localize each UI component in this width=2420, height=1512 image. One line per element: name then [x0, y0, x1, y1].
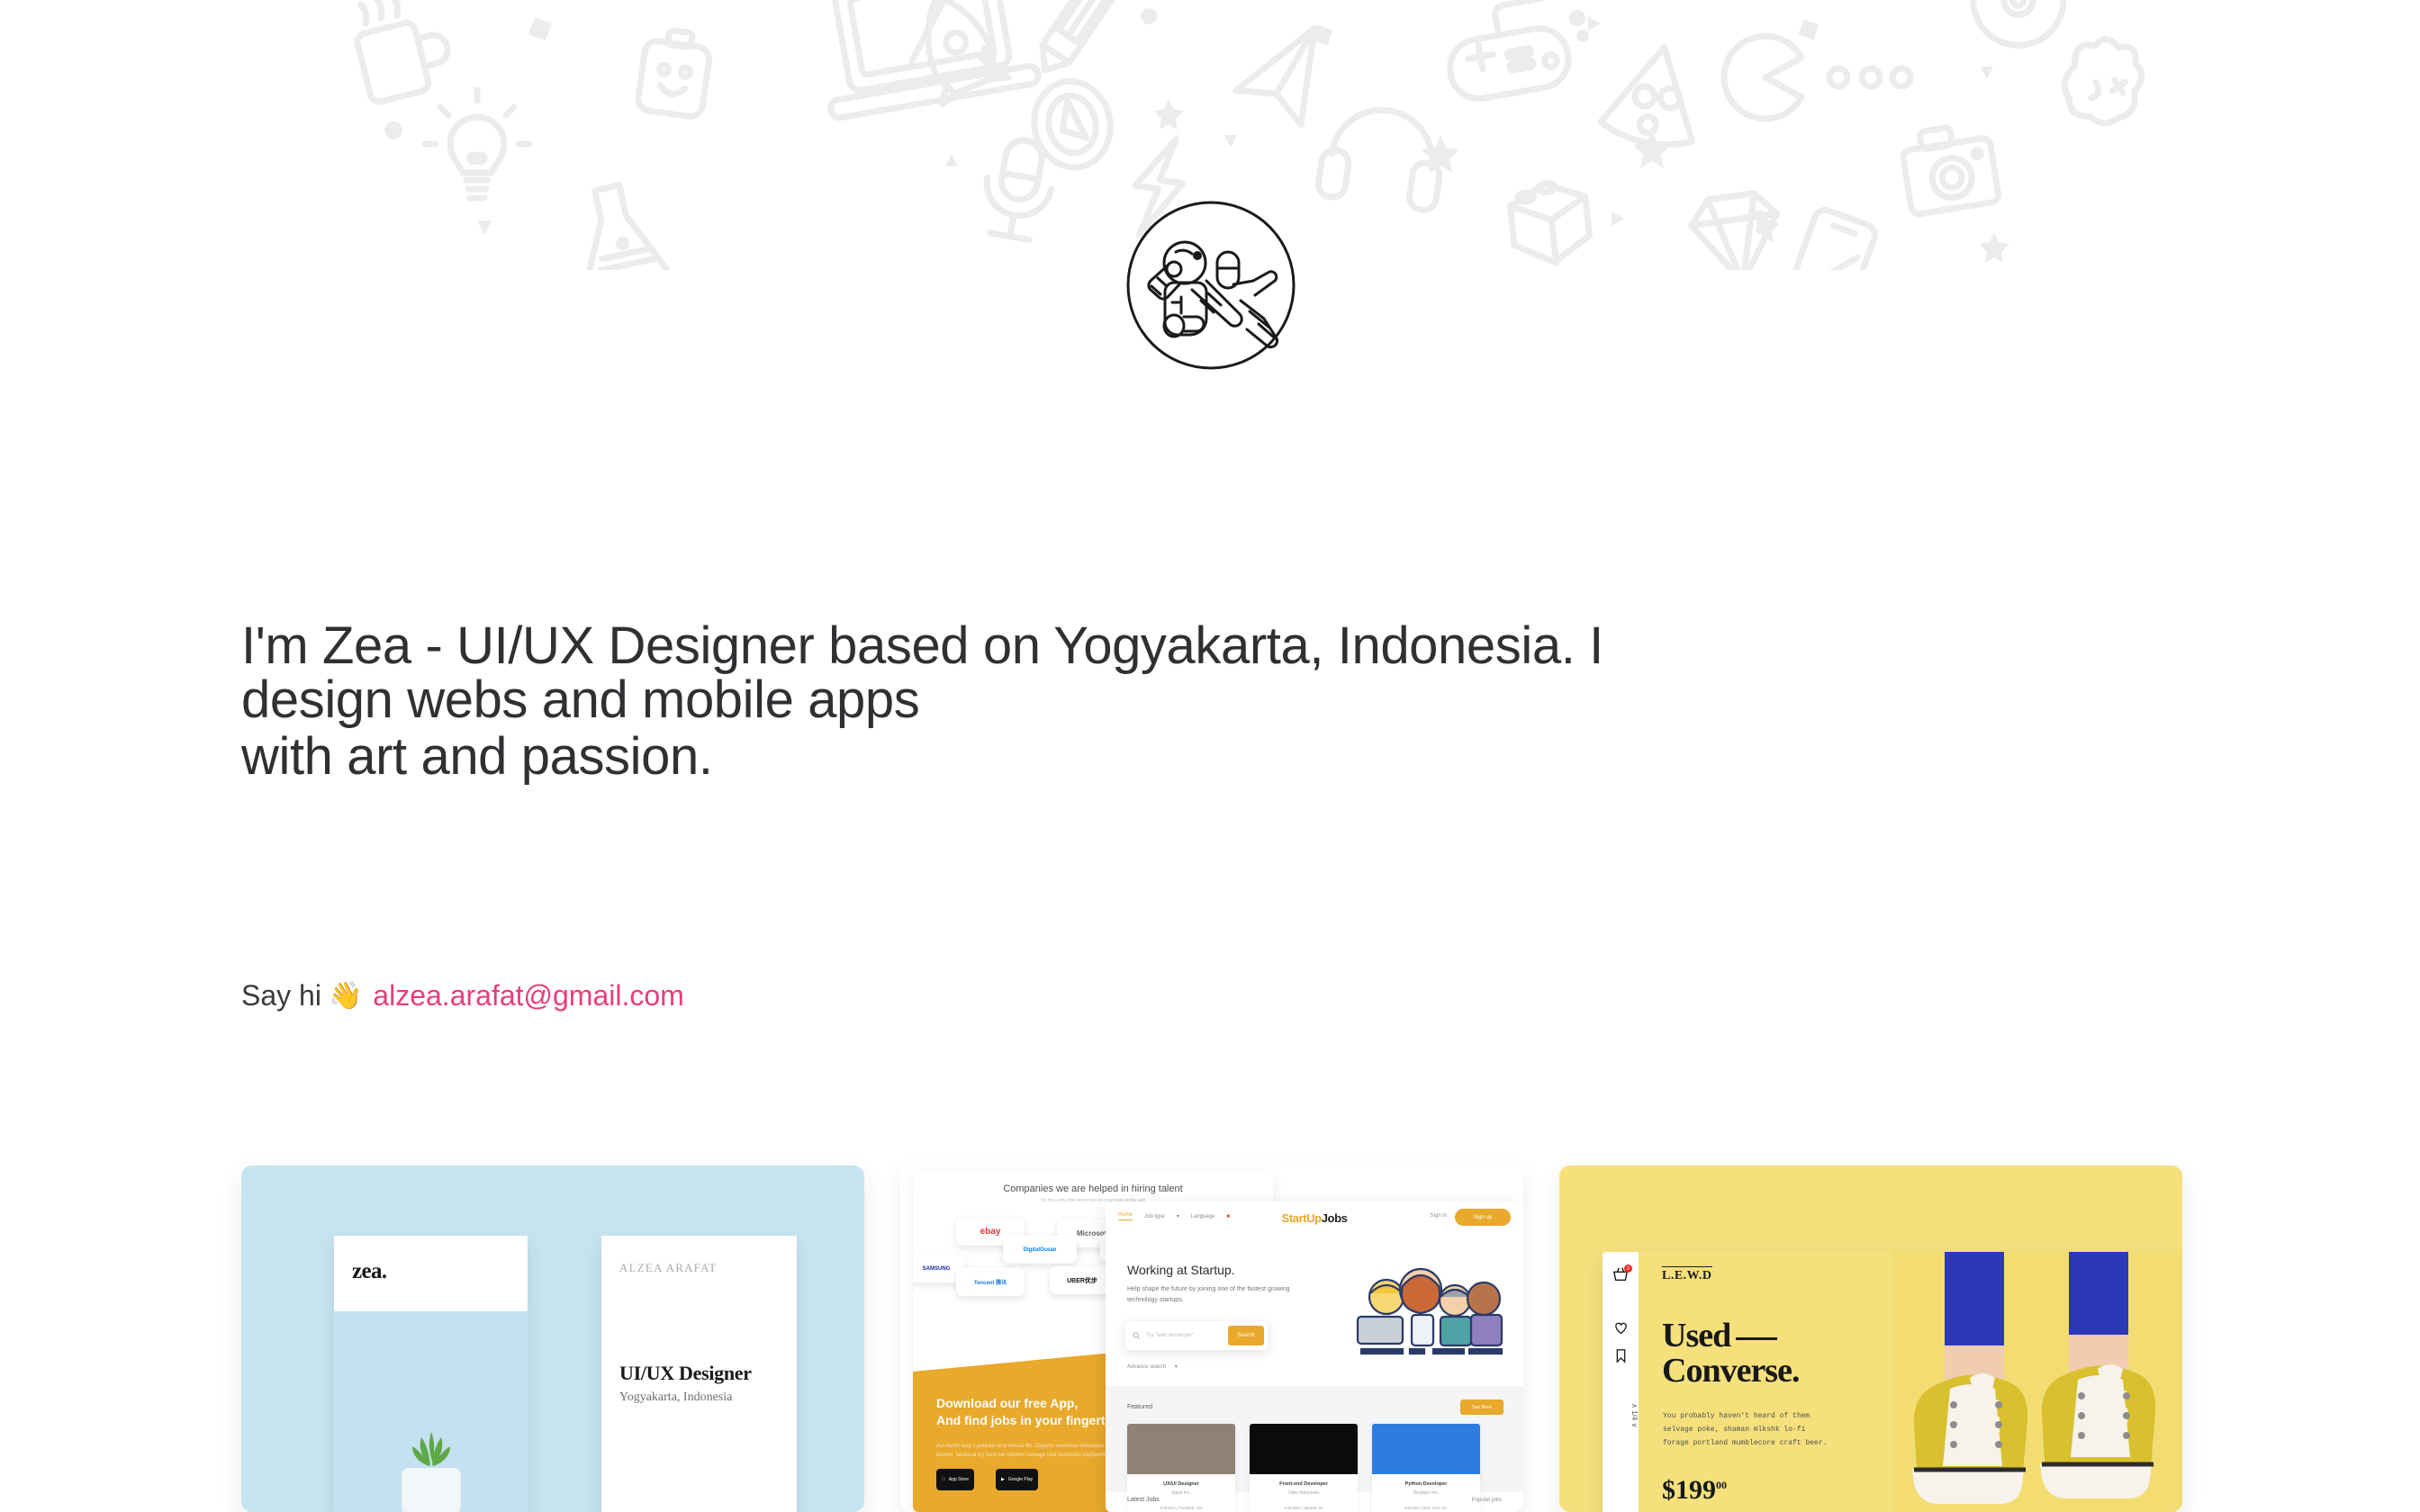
- pencil-icon: [1032, 0, 1130, 79]
- circle-dot-icon: [1829, 68, 1847, 86]
- product-description: You probably haven't heard of them selva…: [1663, 1410, 1829, 1450]
- headphones-icon: [1317, 103, 1448, 211]
- search-placeholder-text: Try "web developer": [1146, 1333, 1194, 1338]
- person-name: ALZEA ARAFAT: [619, 1261, 717, 1275]
- work-card-branding[interactable]: zea. ALZEA ARAFAT: [241, 1165, 864, 1512]
- hero-headline-line-2: design webs and mobile apps: [241, 673, 2132, 727]
- brand-part-startup: StartUp: [1282, 1211, 1322, 1225]
- email-link[interactable]: alzea.arafat@gmail.com: [373, 979, 684, 1012]
- pager-value: 1/4: [1630, 1410, 1639, 1420]
- latest-jobs-heading: Latest Jobs: [1127, 1497, 1160, 1503]
- jobs-home-screen: Home Job type ▾ Language ■ StartUpJobs S…: [1106, 1201, 1523, 1512]
- sign-up-button[interactable]: Sign up: [1455, 1209, 1511, 1226]
- job-meta: Full-time | Jakarta, ID: [1250, 1506, 1358, 1510]
- job-card[interactable]: Front-end Developer Uber Indonesia Full-…: [1250, 1424, 1358, 1512]
- compass-icon: [1026, 75, 1118, 175]
- say-hi-label: Say hi: [241, 979, 321, 1012]
- nav-item-job-type[interactable]: Job type: [1144, 1214, 1165, 1219]
- shop-screen: 3 ∧ 1/4 ∨ L.E.W.D Us: [1603, 1252, 2182, 1512]
- product-photo: [1892, 1252, 2182, 1512]
- job-title: Front-end Developer: [1250, 1481, 1358, 1487]
- companies-headline: Companies we are helped in hiring talent: [913, 1183, 1273, 1194]
- person-role: UI/UX Designer: [619, 1362, 752, 1385]
- app-store-label: App Store: [949, 1477, 969, 1482]
- microphone-icon: [978, 135, 1059, 242]
- jobs-hero-subtitle: Help shape the future by joining one of …: [1127, 1284, 1307, 1307]
- pizza-slice-icon: [1598, 38, 1710, 152]
- lego-brick-icon: [1508, 179, 1592, 266]
- product-price: $19900: [1662, 1475, 1727, 1506]
- pager-down-icon[interactable]: ∨: [1630, 1423, 1639, 1428]
- job-company: Dropbox Inc.: [1372, 1490, 1480, 1496]
- shop-content: L.E.W.D Used Converse. You probably have…: [1639, 1252, 2182, 1512]
- flag-icon: ■: [1226, 1214, 1230, 1219]
- triangle-icon: [1224, 135, 1237, 148]
- chevron-down-icon: ▾: [1177, 1213, 1179, 1219]
- google-play-label: Google Play: [1008, 1477, 1033, 1482]
- triangle-icon: [1981, 67, 1993, 79]
- play-triangle-icon: ▶: [1001, 1477, 1005, 1482]
- product-title-line-1: Used: [1662, 1317, 1730, 1354]
- triangle-icon: [1588, 16, 1601, 31]
- paper-plane-icon: [1229, 29, 1328, 133]
- circle-dot-icon: [384, 121, 402, 139]
- plant-pot: [402, 1468, 461, 1512]
- promo-title-line-2: And find jobs in your fingertips!: [936, 1413, 1127, 1427]
- job-card[interactable]: Python Developer Dropbox Inc. Remote | N…: [1372, 1424, 1480, 1512]
- star-icon: [1979, 232, 2009, 263]
- portfolio-page: I'm Zea - UI/UX Designer based on Yogyak…: [0, 0, 2420, 1512]
- astronaut-logo[interactable]: [1125, 200, 1296, 371]
- star-icon: [1153, 99, 1184, 130]
- jobs-brand-logo: StartUpJobs: [1282, 1211, 1348, 1225]
- brand-photo: [334, 1311, 528, 1512]
- coffee-mug-icon: [348, 0, 456, 103]
- brand-business-card: ALZEA ARAFAT UI/UX Designer Yogyakarta, …: [601, 1236, 797, 1512]
- chevron-down-icon: ▾: [1175, 1364, 1178, 1370]
- job-thumbnail: [1250, 1424, 1358, 1474]
- lego-head-icon: [637, 27, 712, 118]
- job-thumbnail: [1372, 1424, 1480, 1474]
- circle-dot-icon: [1862, 68, 1880, 86]
- circle-dot-icon: [1569, 10, 1585, 26]
- pager-up-icon[interactable]: ∧: [1630, 1403, 1639, 1408]
- flask-icon: [567, 179, 668, 270]
- astronaut-icon: [1149, 242, 1278, 347]
- google-play-badge[interactable]: ▶ Google Play: [996, 1469, 1038, 1490]
- square-dot-icon: [1312, 24, 1332, 45]
- promo-title-line-1: Download our free App,: [936, 1396, 1078, 1410]
- plant-leaves-icon: [405, 1432, 457, 1468]
- work-cards-row: zea. ALZEA ARAFAT: [0, 1165, 2420, 1512]
- converse-sneakers-photo: [1892, 1252, 2182, 1512]
- job-thumbnail: [1127, 1424, 1235, 1474]
- app-store-badge[interactable]:  App Store: [936, 1469, 974, 1490]
- logo-chip-digitalocean: DigitalOcean: [1003, 1236, 1077, 1264]
- image-pager[interactable]: ∧ 1/4 ∨: [1603, 1384, 1639, 1447]
- promo-body: Aut durch deip s palared eind ethical ti…: [936, 1442, 1116, 1460]
- featured-label: Featured: [1127, 1404, 1152, 1410]
- search-icon: [1133, 1332, 1140, 1339]
- brand-poster-front: zea.: [334, 1236, 528, 1512]
- diamond-icon: [1688, 191, 1785, 270]
- monster-icon: [2059, 33, 2147, 129]
- shop-side-rail: 3 ∧ 1/4 ∨: [1603, 1252, 1639, 1512]
- popular-jobs-filter[interactable]: Popular jobs: [1472, 1498, 1502, 1503]
- lightbulb-icon: [425, 90, 529, 198]
- product-title: Used Converse.: [1662, 1318, 1824, 1389]
- square-dot-icon: [528, 17, 552, 40]
- search-button[interactable]: Search: [1228, 1326, 1264, 1345]
- square-dot-icon: [977, 44, 998, 65]
- job-company: Uber Indonesia: [1250, 1490, 1358, 1496]
- price-amount: $199: [1662, 1475, 1716, 1505]
- work-card-shop[interactable]: 3 ∧ 1/4 ∨ L.E.W.D Us: [1559, 1165, 2182, 1512]
- advance-search-label: Advance search: [1127, 1364, 1166, 1370]
- hero-headline-line-3: with art and passion.: [241, 730, 2132, 784]
- camera-icon: [1900, 121, 2000, 215]
- jobs-search-bar[interactable]: Try "web developer" Search: [1125, 1321, 1268, 1350]
- nav-item-home[interactable]: Home: [1118, 1212, 1133, 1220]
- compact-disc-icon: [1963, 0, 2074, 56]
- star-icon: [1422, 135, 1459, 173]
- job-meta: Remote | New York, NY: [1372, 1506, 1480, 1510]
- gamepad-icon: [1440, 0, 1573, 103]
- pacman-icon: [1724, 36, 1801, 119]
- team-illustration: [1350, 1261, 1505, 1360]
- job-company: Slack Inc.: [1127, 1490, 1235, 1496]
- star-icon: [1633, 130, 1671, 168]
- circle-dot-icon: [1141, 8, 1157, 24]
- circle-dot-icon: [1576, 30, 1589, 42]
- product-title-line-2: Converse.: [1662, 1352, 1799, 1390]
- cart-count-badge: 3: [1624, 1264, 1632, 1273]
- see-more-button[interactable]: See More: [1460, 1399, 1503, 1415]
- jobs-hero-title: Working at Startup.: [1127, 1263, 1235, 1277]
- brand-part-jobs: Jobs: [1322, 1211, 1348, 1225]
- nav-item-language[interactable]: Language: [1191, 1214, 1215, 1219]
- square-dot-icon: [1798, 19, 1819, 40]
- shop-brand-logo: L.E.W.D: [1662, 1266, 1712, 1283]
- job-title: Python Developer: [1372, 1481, 1480, 1487]
- logo-chip-tencent: Tencent 腾讯: [956, 1268, 1025, 1296]
- title-dash: [1736, 1337, 1777, 1340]
- bookmark-icon: [1614, 1348, 1628, 1363]
- advance-search-toggle[interactable]: Advance search ▾: [1127, 1363, 1178, 1370]
- person-location: Yogyakarta, Indonesia: [619, 1390, 732, 1405]
- work-card-startupjobs[interactable]: Companies we are helped in hiring talent…: [900, 1165, 1523, 1512]
- price-cents: 00: [1716, 1479, 1727, 1491]
- laptop-icon: [809, 0, 1039, 119]
- smartphone-icon: [1779, 207, 1878, 270]
- star-icon: [1749, 211, 1780, 242]
- circle-dot-icon: [1892, 68, 1910, 86]
- triangle-icon: [945, 154, 958, 166]
- job-meta: Full-time | Portland, OR: [1127, 1506, 1235, 1510]
- contact-line: Say hi 👋 alzea.arafat@gmail.com: [241, 979, 684, 1012]
- hero-headline: I'm Zea - UI/UX Designer based on Yogyak…: [241, 619, 2132, 784]
- rocket-icon: [904, 0, 1008, 104]
- job-title: UX/UI Designer: [1127, 1481, 1235, 1487]
- sign-in-link[interactable]: Sign in: [1431, 1213, 1447, 1219]
- triangle-icon: [1612, 211, 1624, 226]
- waving-hand-icon: 👋: [329, 983, 362, 1010]
- apple-icon: : [942, 1477, 945, 1482]
- brand-mark-label: zea.: [352, 1259, 387, 1284]
- heart-icon: [1613, 1320, 1629, 1336]
- featured-jobs-band: Featured See More UX/UI Designer Slack I…: [1106, 1386, 1523, 1492]
- hero-headline-line-1: I'm Zea - UI/UX Designer based on Yogyak…: [241, 619, 2132, 673]
- triangle-icon: [477, 220, 492, 235]
